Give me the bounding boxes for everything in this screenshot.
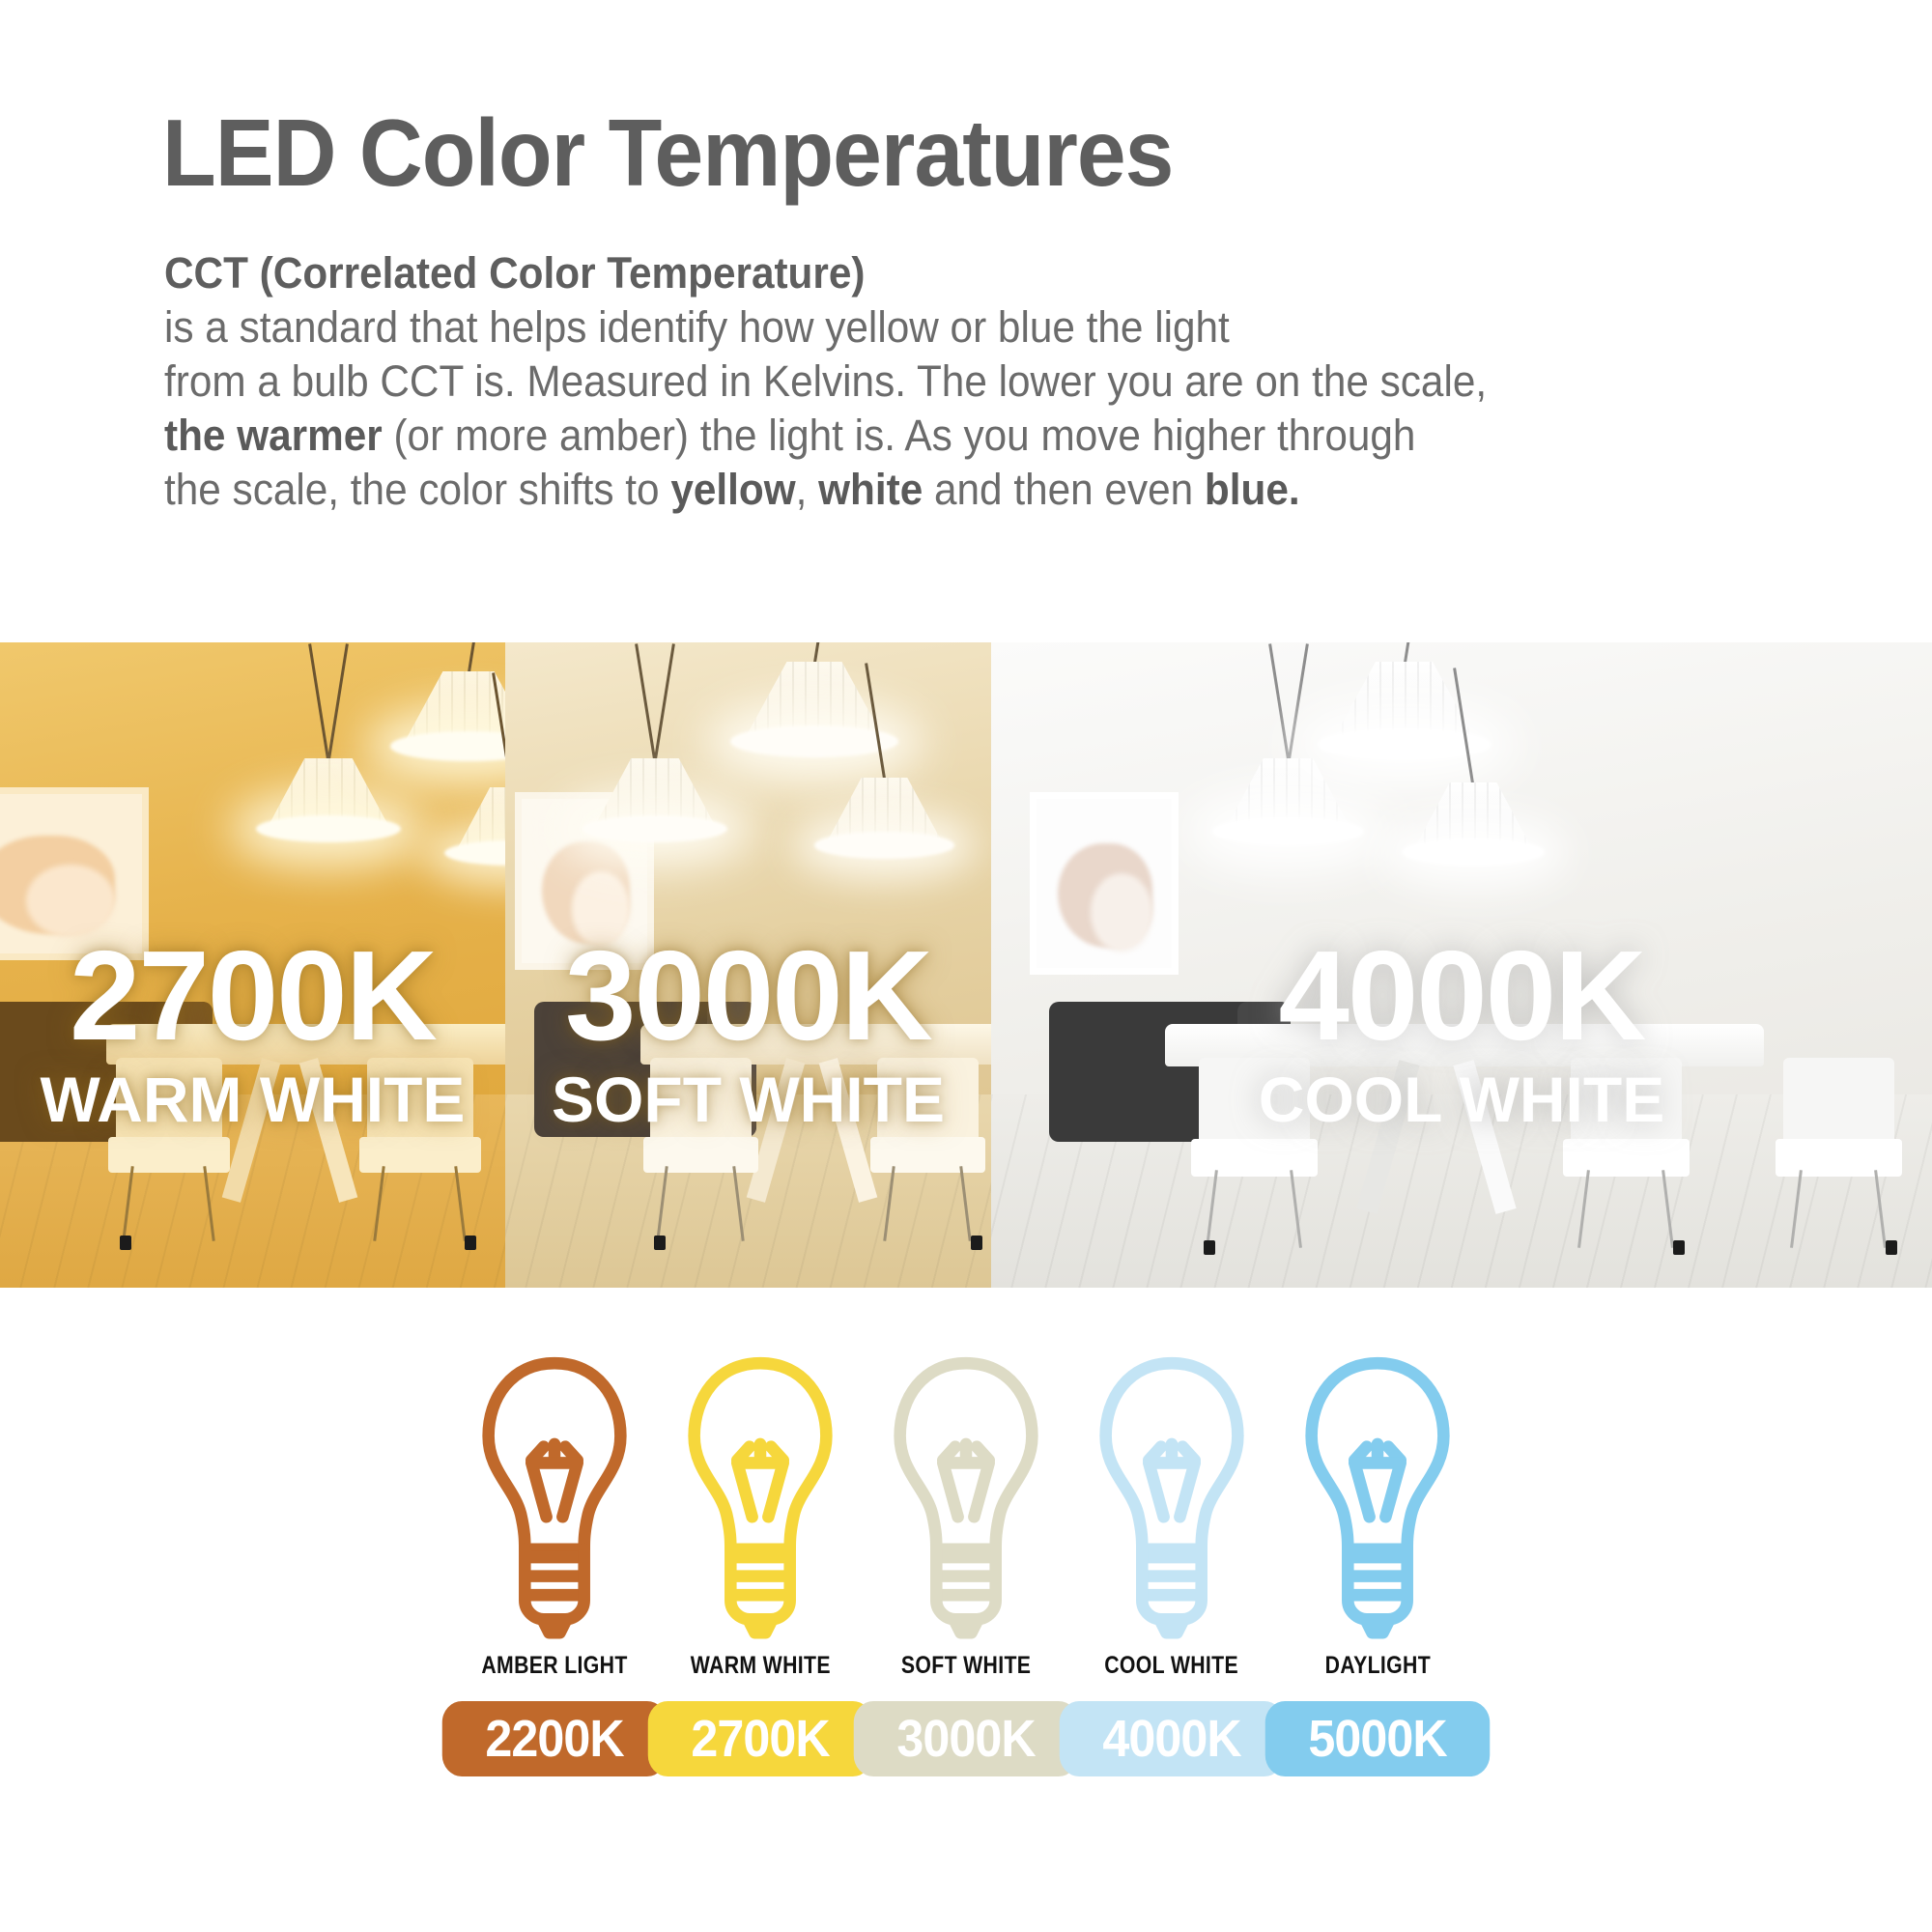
kelvin-scale-item-cool-white[interactable]: COOL WHITE 4000K [1069, 1352, 1275, 1776]
panel-kelvin-2700k: 2700K [0, 932, 505, 1060]
pendant-lamp-center [1223, 758, 1353, 834]
chair-foot [1886, 1240, 1897, 1255]
pendant-lamp-lower-right [824, 778, 945, 847]
chair-foot [971, 1236, 982, 1250]
pendant-lamp-lower-right [454, 787, 505, 855]
pendant-lamp-lower-right [1411, 782, 1535, 854]
room-panel-2700k: 2700K WARM WHITE [0, 642, 505, 1288]
intro-line-2: from a bulb CCT is. Measured in Kelvins.… [164, 355, 1708, 409]
pendant-lamp-center [266, 758, 391, 831]
lightbulb-icon [1091, 1352, 1253, 1642]
chair-seat [643, 1137, 759, 1173]
intro-line-3: the warmer (or more amber) the light is.… [164, 409, 1708, 463]
kelvin-scale-pill[interactable]: 3000K [854, 1701, 1079, 1776]
chair-foot [465, 1236, 476, 1250]
lamp-glow [582, 815, 728, 843]
panel-kelvin-3000k: 3000K [505, 932, 991, 1060]
panel-name-2700k: WARM WHITE [0, 1067, 505, 1131]
kelvin-scale-pill[interactable]: 2700K [648, 1701, 873, 1776]
lamp-glow [256, 815, 402, 843]
intro-line-4-d: and then even [923, 465, 1205, 514]
intro-line-4: the scale, the color shifts to yellow, w… [164, 463, 1708, 517]
kelvin-scale-item-amber-light[interactable]: AMBER LIGHT 2200K [452, 1352, 658, 1776]
pendant-lamp-upper-right [401, 671, 505, 749]
intro-line-4-c: , [796, 465, 819, 514]
panel-name-4000k: COOL WHITE [991, 1067, 1932, 1131]
lamp-glow [1402, 838, 1545, 866]
pendant-lamp-upper-right [742, 662, 887, 744]
page-title: LED Color Temperatures [162, 104, 1173, 201]
panel-kelvin-4000k: 4000K [991, 932, 1932, 1060]
pendant-lamp-center [592, 758, 718, 831]
room-panel-3000k: 3000K SOFT WHITE [505, 642, 991, 1288]
intro-bold-white: white [818, 465, 923, 514]
chair-seat [1191, 1139, 1318, 1177]
chair-foot [120, 1236, 131, 1250]
header-section: LED Color Temperatures CCT (Correlated C… [0, 0, 1932, 642]
lightbulb-icon [1296, 1352, 1459, 1642]
lightbulb-icon [679, 1352, 841, 1642]
kelvin-scale-pill[interactable]: 5000K [1265, 1701, 1491, 1776]
kelvin-scale-caption: COOL WHITE [1105, 1652, 1239, 1680]
kelvin-scale-item-daylight[interactable]: DAYLIGHT 5000K [1275, 1352, 1481, 1776]
room-scene-strip: 2700K WARM WHITE [0, 642, 1932, 1288]
kelvin-scale-caption: DAYLIGHT [1324, 1652, 1430, 1680]
intro-lede: CCT (Correlated Color Temperature) [164, 246, 1708, 300]
chair-seat [359, 1137, 480, 1173]
intro-line-3-rest: (or more amber) the light is. As you mov… [383, 411, 1416, 460]
lightbulb-icon [885, 1352, 1047, 1642]
kelvin-scale-row: AMBER LIGHT 2200K WARM WHITE 2700K [0, 1352, 1932, 1932]
intro-line-4-a: the scale, the color shifts to [164, 465, 670, 514]
panel-name-3000k: SOFT WHITE [505, 1067, 991, 1131]
chair-seat [1776, 1139, 1902, 1177]
intro-bold-warmer: the warmer [164, 411, 383, 460]
intro-paragraph: CCT (Correlated Color Temperature) is a … [164, 246, 1708, 517]
room-panel-4000k: 4000K COOL WHITE [991, 642, 1932, 1288]
kelvin-scale-pill[interactable]: 4000K [1060, 1701, 1285, 1776]
chair-foot [1673, 1240, 1685, 1255]
chair-seat [108, 1137, 229, 1173]
kelvin-scale-caption: AMBER LIGHT [481, 1652, 627, 1680]
chair-seat [1563, 1139, 1690, 1177]
intro-bold-blue: blue. [1205, 465, 1300, 514]
chair-seat [870, 1137, 986, 1173]
lamp-glow [730, 725, 898, 756]
chair-foot [654, 1236, 666, 1250]
kelvin-scale-item-soft-white[interactable]: SOFT WHITE 3000K [864, 1352, 1069, 1776]
kelvin-scale-caption: WARM WHITE [690, 1652, 830, 1680]
intro-bold-yellow: yellow [670, 465, 795, 514]
chair-foot [1204, 1240, 1215, 1255]
kelvin-scale-pill[interactable]: 2200K [442, 1701, 668, 1776]
kelvin-scale-item-warm-white[interactable]: WARM WHITE 2700K [658, 1352, 864, 1776]
lamp-glow [814, 832, 954, 858]
intro-line-1: is a standard that helps identify how ye… [164, 300, 1708, 355]
lightbulb-icon [473, 1352, 636, 1642]
kelvin-scale-caption: SOFT WHITE [901, 1652, 1031, 1680]
